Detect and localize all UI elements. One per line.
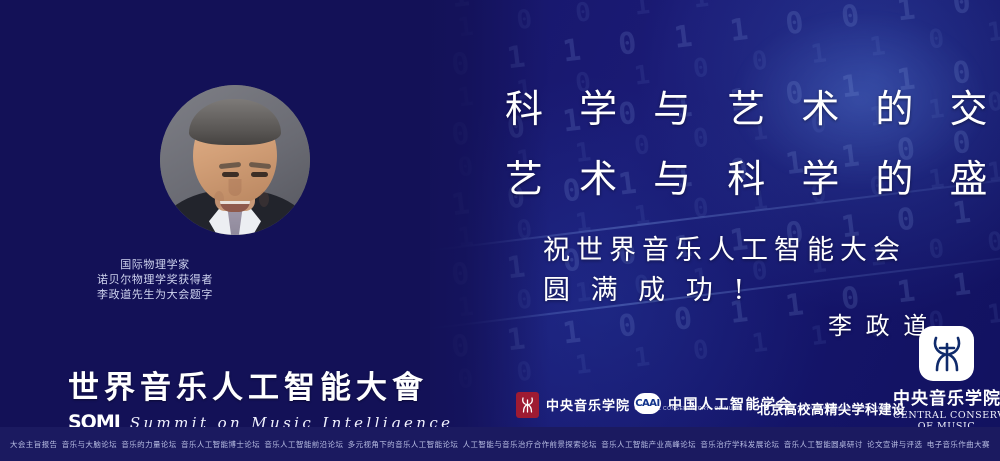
ccom-logo-english-1: CENTRAL CONSERVATORY [893, 410, 1000, 421]
eye [251, 172, 268, 177]
forum-item-7[interactable]: 音乐人工智能产业高峰论坛 [601, 439, 696, 450]
caption-line-profession: 国际物理学家 [0, 258, 310, 273]
forum-item-8[interactable]: 音乐治疗学科发展论坛 [700, 439, 779, 450]
calligraphy-line-3: 祝世界音乐人工智能大会 [543, 228, 906, 267]
eyebrow [219, 162, 241, 169]
eyebrow [249, 162, 271, 169]
forum-item-5[interactable]: 多元视角下的音乐人工智能论坛 [348, 439, 459, 450]
eye [222, 172, 239, 177]
portrait-photo [160, 85, 310, 235]
cheek-shade [259, 191, 269, 207]
forum-item-0[interactable]: 大会主旨报告 [10, 439, 57, 450]
event-logo-chinese: 世界音乐人工智能大會 [68, 362, 413, 407]
ccom-seal-icon [516, 392, 539, 418]
caption-line-award: 诺贝尔物理学奖获得者 [0, 273, 310, 288]
forum-item-10[interactable]: 论文宣讲与评选 [867, 439, 922, 450]
forum-item-4[interactable]: 音乐人工智能前沿论坛 [264, 439, 343, 450]
caption-line-inscription: 李政道先生为大会题字 [0, 288, 310, 303]
calligraphy-line-1: 科 学 与 艺 术 的 交 融 [505, 78, 1000, 133]
portrait-caption: 国际物理学家 诺贝尔物理学奖获得者 李政道先生为大会题字 [0, 258, 310, 303]
forum-item-6[interactable]: 人工智能与音乐治疗合作前景探索论坛 [463, 439, 597, 450]
ccom-primary-logo: 中央音乐学院 CENTRAL CONSERVATORY OF MUSIC [893, 326, 1000, 432]
forum-item-3[interactable]: 音乐人工智能博士论坛 [181, 439, 260, 450]
calligraphy-line-4: 圆 满 成 功 ! [543, 268, 750, 307]
partner-ccom-chinese: 中央音乐学院 [546, 399, 630, 414]
ccom-logo-chinese: 中央音乐学院 [893, 384, 1000, 409]
forum-nav-strip[interactable]: 大会主旨报告 音乐与大脑论坛 音乐的力量论坛 音乐人工智能博士论坛 音乐人工智能… [0, 427, 1000, 461]
partner-logo-bjhp: 北京高校高精尖学科建设 [757, 399, 906, 418]
forum-item-1[interactable]: 音乐与大脑论坛 [62, 439, 117, 450]
forum-item-2[interactable]: 音乐的力量论坛 [121, 439, 176, 450]
forum-item-9[interactable]: 音乐人工智能圆桌研讨 [784, 439, 863, 450]
event-logo: 世界音乐人工智能大會 SOMI Summit on Music Intellig… [68, 362, 413, 433]
conference-banner: 1 0 1 1 0 0 1 0 1 1 0 1 1 0 0 1 0 1 1 0 … [0, 0, 1000, 461]
forum-item-11[interactable]: 电子音乐作曲大赛 [927, 439, 990, 450]
nose [229, 179, 242, 196]
caai-badge-icon: CAAI [634, 393, 661, 414]
calligraphy-line-2: 艺 术 与 科 学 的 盛 会 [505, 148, 1000, 203]
ccom-logo-icon [919, 326, 974, 381]
avatar [160, 85, 310, 235]
